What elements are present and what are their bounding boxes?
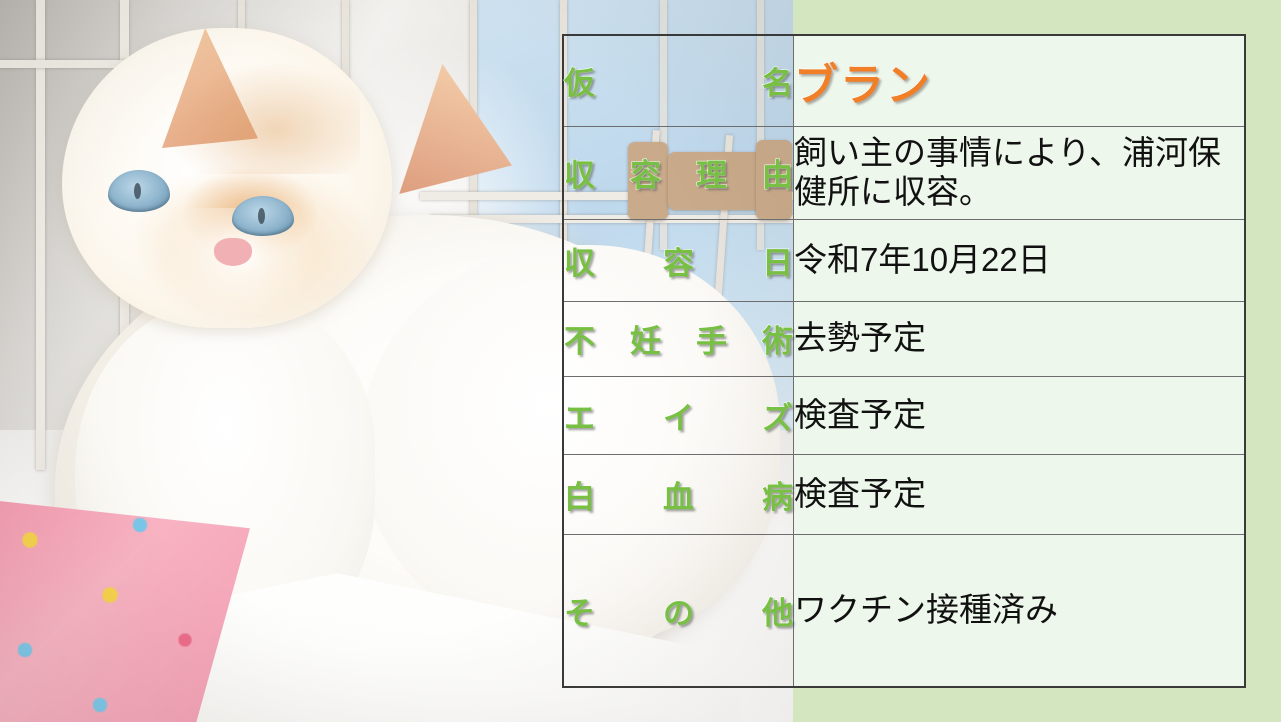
label-char: 収 <box>564 238 595 283</box>
label-char: 理 <box>696 150 727 195</box>
label-char: イ <box>663 393 694 438</box>
label-char: 容 <box>663 238 694 283</box>
label-char: ズ <box>762 393 793 438</box>
label-char: 白 <box>564 472 595 517</box>
label-char: エ <box>564 393 595 438</box>
label-char: 不 <box>564 316 595 361</box>
label-char: 日 <box>762 238 793 283</box>
row-value-cell: ブラン <box>794 35 1246 126</box>
label-char: 妊 <box>630 316 661 361</box>
row-label-cell: 収 容 日 <box>563 219 794 301</box>
row-value-cell: 検査予定 <box>794 376 1246 454</box>
label-funin-shujutsu: 不 妊 手 術 <box>564 316 793 361</box>
label-shuyou-riyuu: 収 容 理 由 <box>564 150 793 195</box>
value-sonota: ワクチン接種済み <box>794 591 1244 630</box>
label-aids: エ イ ズ <box>564 393 793 438</box>
label-kariname: 仮 名 <box>564 58 793 103</box>
label-char: 仮 <box>564 58 595 103</box>
value-shuyou-bi: 令和7年10月22日 <box>794 241 1244 280</box>
row-value-cell: 令和7年10月22日 <box>794 219 1246 301</box>
table-row: 仮 名 ブラン <box>563 35 1245 126</box>
table-row: 白 血 病 検査予定 <box>563 454 1245 534</box>
label-char: そ <box>564 588 595 633</box>
label-sonota: そ の 他 <box>564 588 793 633</box>
row-label-cell: そ の 他 <box>563 534 794 687</box>
row-label-cell: 不 妊 手 術 <box>563 301 794 376</box>
label-char: 手 <box>696 316 727 361</box>
table-row: 不 妊 手 術 去勢予定 <box>563 301 1245 376</box>
value-funin-shujutsu: 去勢予定 <box>794 319 1244 358</box>
label-char: 収 <box>564 150 595 195</box>
label-char: の <box>663 588 694 633</box>
table-row: エ イ ズ 検査予定 <box>563 376 1245 454</box>
row-label-cell: エ イ ズ <box>563 376 794 454</box>
value-aids: 検査予定 <box>794 396 1244 435</box>
label-char: 容 <box>630 150 661 195</box>
label-char: 名 <box>762 58 793 103</box>
table-row: 収 容 理 由 飼い主の事情により、浦河保健所に収容。 <box>563 126 1245 219</box>
row-label-cell: 仮 名 <box>563 35 794 126</box>
row-value-cell: ワクチン接種済み <box>794 534 1246 687</box>
row-label-cell: 白 血 病 <box>563 454 794 534</box>
label-hakketsubyou: 白 血 病 <box>564 472 793 517</box>
value-shuyou-riyuu: 飼い主の事情により、浦河保健所に収容。 <box>794 134 1244 212</box>
value-name: ブラン <box>794 49 1244 113</box>
row-label-cell: 収 容 理 由 <box>563 126 794 219</box>
row-value-cell: 検査予定 <box>794 454 1246 534</box>
page-root: 仮 名 ブラン 収 容 理 由 飼い <box>0 0 1281 722</box>
label-char: 血 <box>663 472 694 517</box>
label-shuyou-bi: 収 容 日 <box>564 238 793 283</box>
value-hakketsubyou: 検査予定 <box>794 475 1244 514</box>
row-value-cell: 飼い主の事情により、浦河保健所に収容。 <box>794 126 1246 219</box>
row-value-cell: 去勢予定 <box>794 301 1246 376</box>
label-char: 由 <box>762 150 793 195</box>
table-row: 収 容 日 令和7年10月22日 <box>563 219 1245 301</box>
label-char: 病 <box>762 472 793 517</box>
table-row: そ の 他 ワクチン接種済み <box>563 534 1245 687</box>
cat-info-table: 仮 名 ブラン 収 容 理 由 飼い <box>562 34 1246 688</box>
label-char: 他 <box>762 588 793 633</box>
label-char: 術 <box>762 316 793 361</box>
